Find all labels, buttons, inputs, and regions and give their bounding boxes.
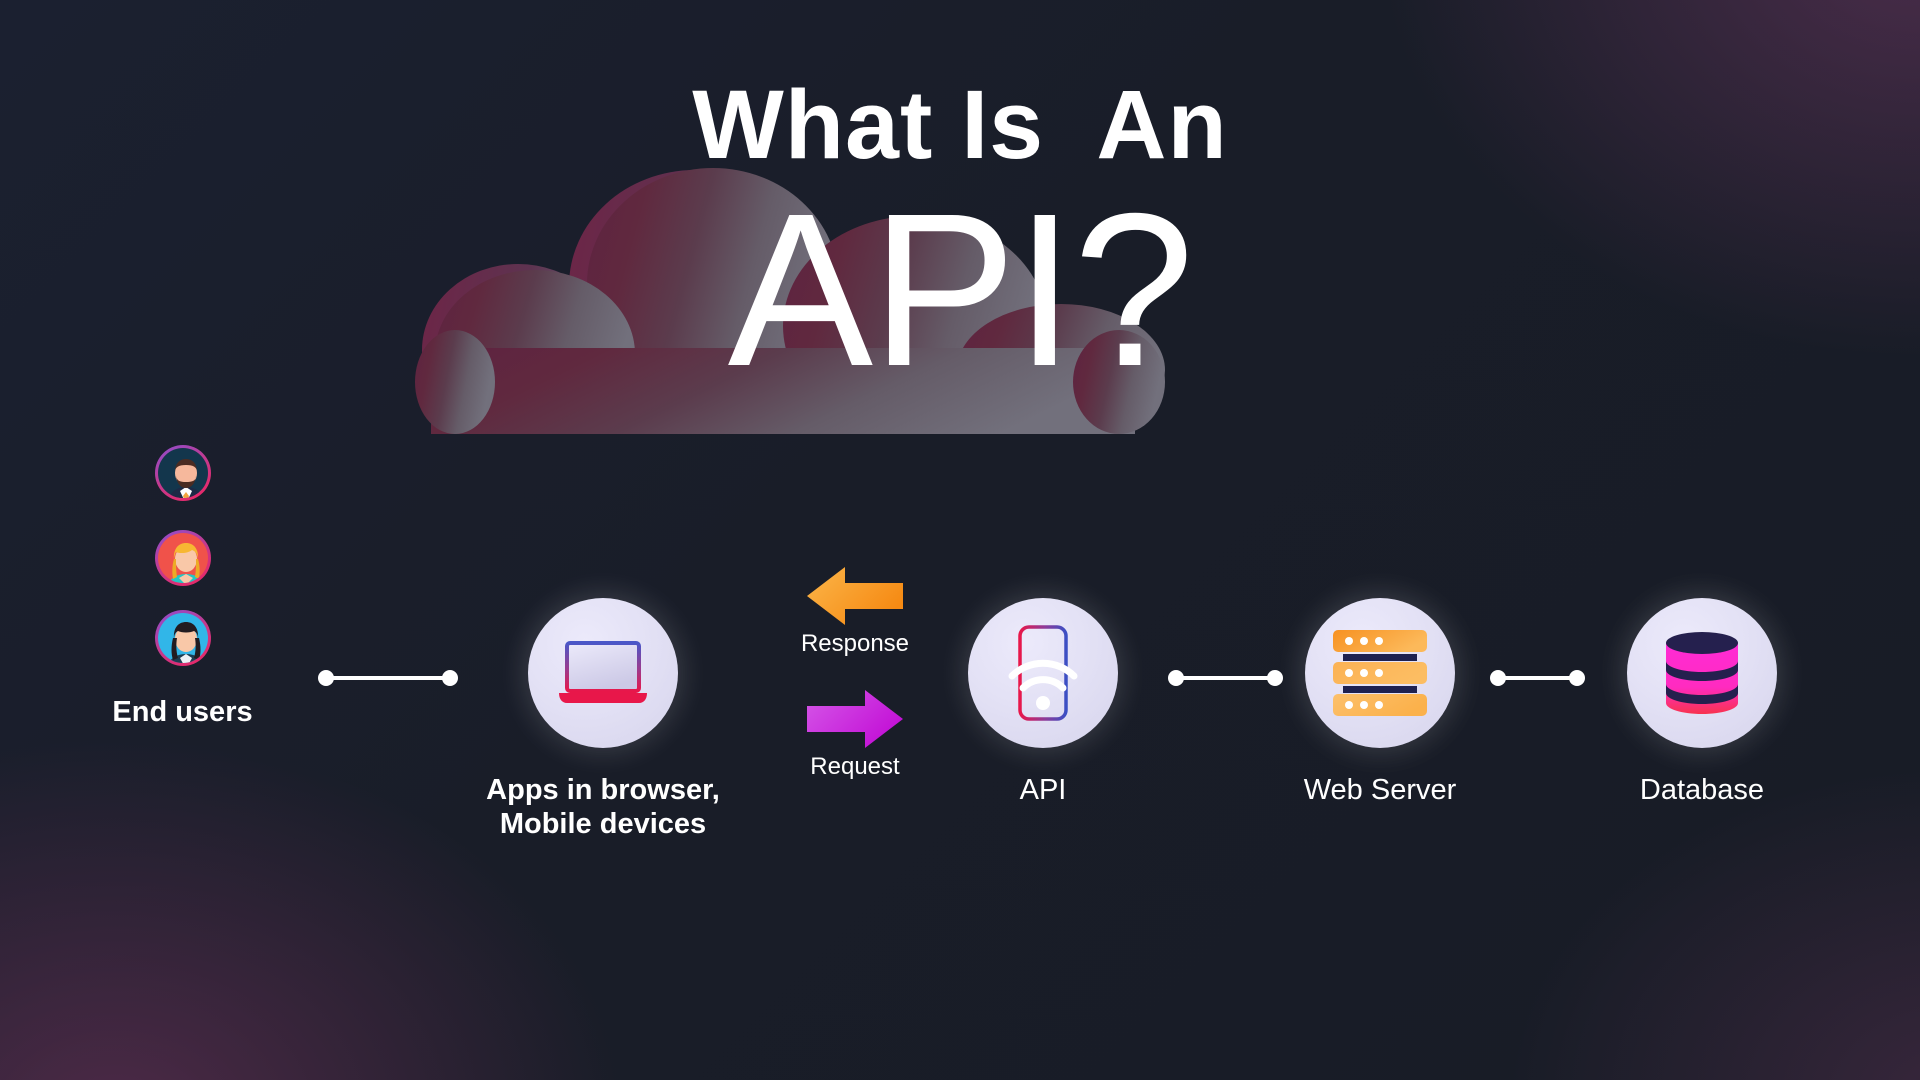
web-server-disc[interactable] <box>1305 598 1455 748</box>
database-disc[interactable] <box>1627 598 1777 748</box>
connector-api-to-server <box>1168 670 1283 686</box>
avatar[interactable] <box>155 445 211 501</box>
connector-server-to-database <box>1490 670 1585 686</box>
arrow-label-response: Response <box>795 630 915 658</box>
node-label-database: Database <box>1567 773 1837 807</box>
server-rack-icon <box>1333 630 1427 716</box>
mobile-wifi-icon <box>1006 624 1080 722</box>
api-disc[interactable] <box>968 598 1118 748</box>
node-label-web-server: Web Server <box>1235 773 1525 807</box>
avatar-dark-haired-woman-icon <box>158 613 208 663</box>
avatar[interactable] <box>155 530 211 586</box>
connector-users-to-apps <box>318 670 458 686</box>
avatar-blonde-woman-icon <box>158 533 208 583</box>
node-label-api: API <box>908 773 1178 807</box>
arrow-label-request: Request <box>795 753 915 781</box>
slide-canvas: What Is An API? <box>0 0 1920 1080</box>
api-flow-diagram: End users <box>0 0 1920 1080</box>
arrow-response-group[interactable]: Response <box>795 565 915 658</box>
connector-line <box>1176 676 1275 680</box>
arrow-request-group[interactable]: Request <box>795 688 915 781</box>
connector-dot <box>442 670 458 686</box>
node-client-apps[interactable]: Apps in browser, Mobile devices <box>528 598 678 858</box>
client-apps-disc[interactable] <box>528 598 678 748</box>
avatar[interactable] <box>155 610 211 666</box>
arrow-left-icon <box>807 565 903 627</box>
database-cylinder-icon <box>1663 630 1741 716</box>
node-web-server[interactable]: Web Server <box>1305 598 1455 828</box>
node-end-users[interactable]: End users <box>95 440 270 740</box>
connector-dot <box>1267 670 1283 686</box>
connector-line <box>1498 676 1577 680</box>
avatar-bearded-man-icon <box>158 448 208 498</box>
connector-dot <box>1569 670 1585 686</box>
node-database[interactable]: Database <box>1627 598 1777 828</box>
laptop-icon <box>555 637 651 709</box>
node-label-end-users: End users <box>35 695 330 729</box>
arrow-right-icon <box>807 688 903 750</box>
request-response-arrows: Response Request <box>795 565 915 781</box>
node-label-client-apps: Apps in browser, Mobile devices <box>438 773 768 841</box>
node-api[interactable]: API <box>968 598 1118 828</box>
connector-line <box>326 676 450 680</box>
